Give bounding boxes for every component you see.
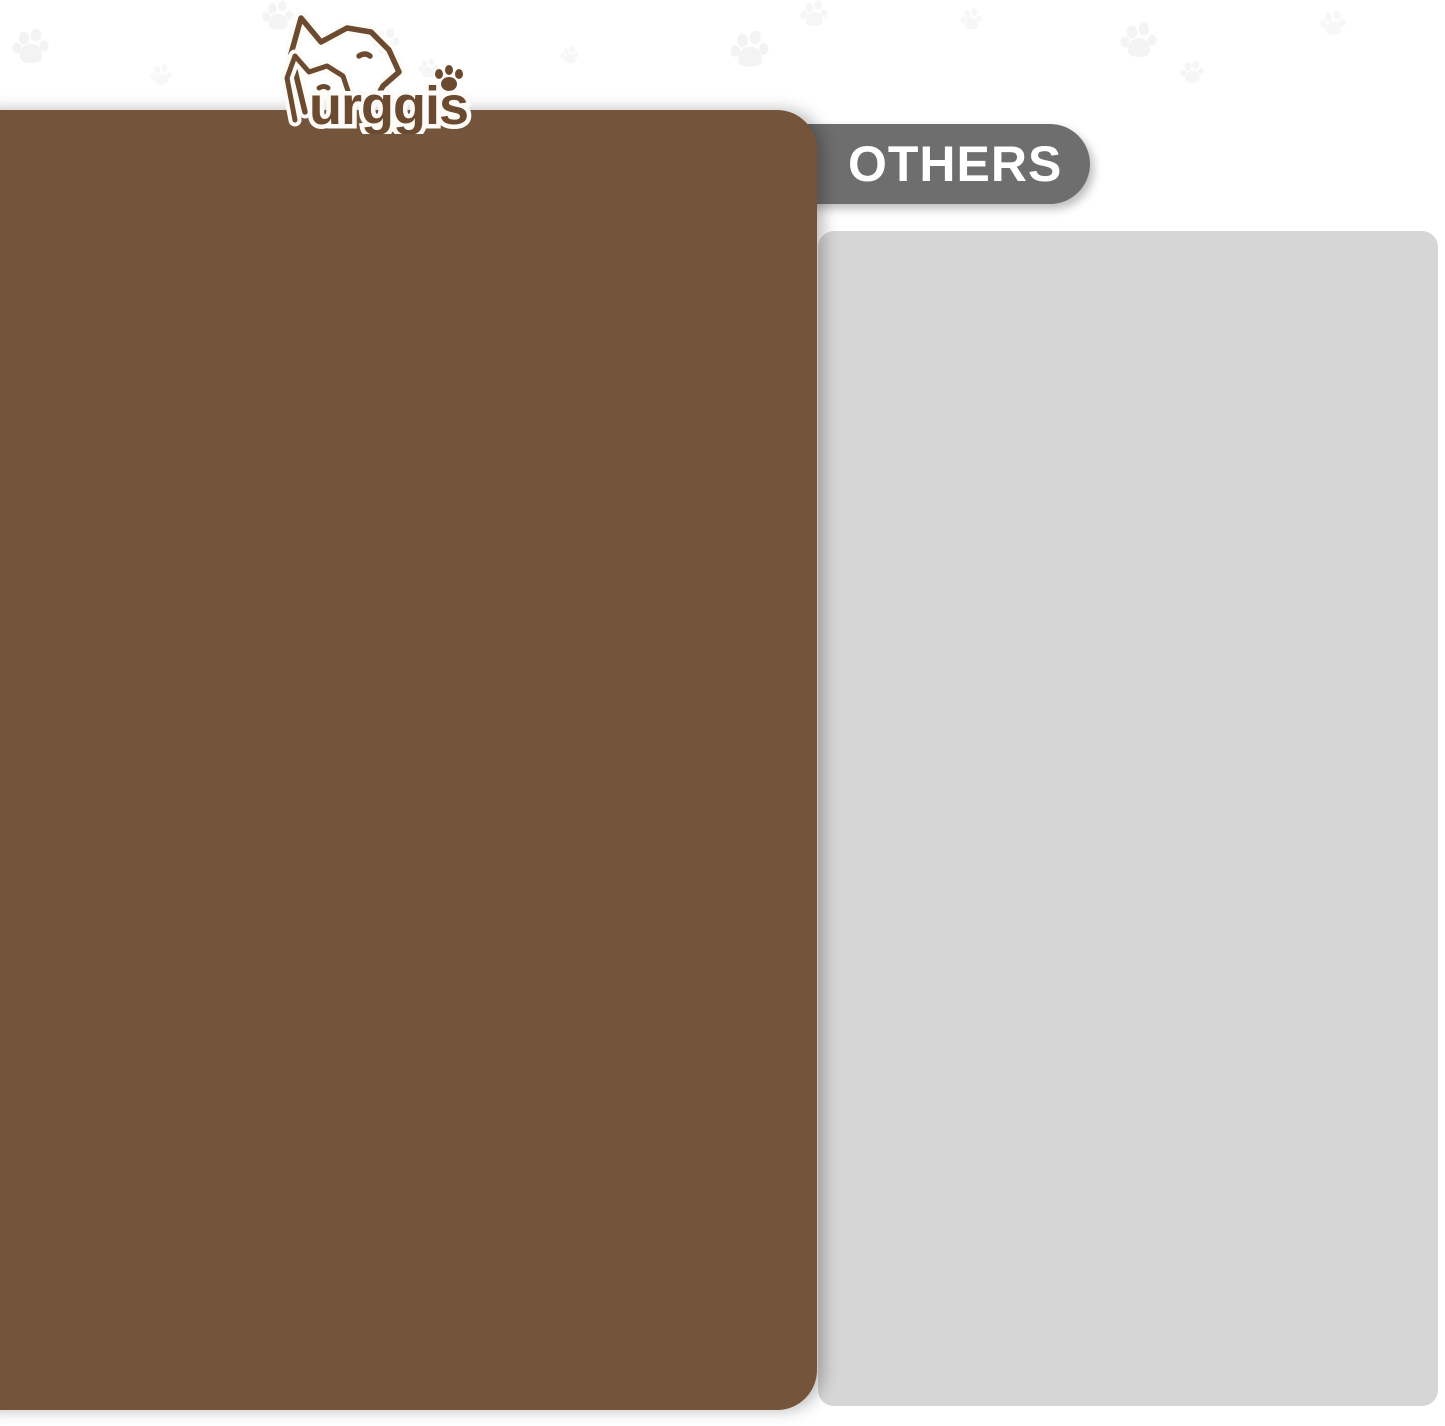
others-label: OTHERS xyxy=(848,135,1062,193)
brand-logo: urggis xyxy=(243,2,493,134)
svg-text:urggis: urggis xyxy=(309,76,468,134)
others-header-pill: OTHERS xyxy=(770,124,1090,204)
brand-panel xyxy=(0,110,817,1410)
paw-print-icon xyxy=(800,0,830,30)
paw-print-icon xyxy=(1180,60,1206,86)
paw-print-icon xyxy=(1120,22,1160,62)
paw-print-icon xyxy=(730,30,772,72)
paw-print-icon xyxy=(960,8,984,32)
paw-print-icon xyxy=(12,28,52,68)
paw-print-icon xyxy=(150,64,174,88)
paw-print-icon xyxy=(1320,10,1348,38)
others-panel xyxy=(818,231,1438,1406)
paw-print-icon xyxy=(560,46,580,66)
